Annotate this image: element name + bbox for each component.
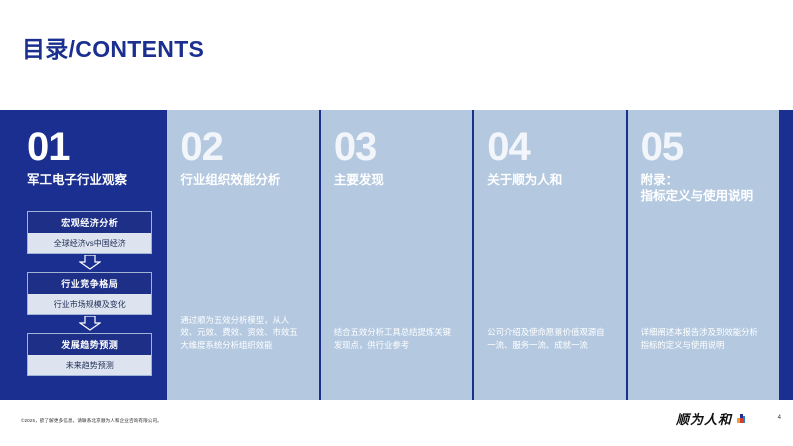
brand-logo: 顺为人和 [676,409,745,428]
flow-step-2[interactable]: 行业竞争格局 行业市场规模及变化 [27,272,152,315]
flow-step-3-title: 发展趋势预测 [28,334,151,356]
band-left-edge [0,110,14,400]
flowchart: 宏观经济分析 全球经济vs中国经济 行业竞争格局 行业市场规模及变化 发展趋 [27,211,152,376]
band-right-edge [779,110,793,400]
content-panel-01[interactable]: 01 军工电子行业观察 宏观经济分析 全球经济vs中国经济 行业竞争格局 行业市… [14,110,165,400]
flow-step-1-title: 宏观经济分析 [28,212,151,234]
content-panel-03[interactable]: 03 主要发现 结合五效分析工具总结提炼关键发现点，供行业参考 [321,110,472,400]
slide-root: 目录/CONTENTS 01 军工电子行业观察 宏观经济分析 全球经济vs中国经… [0,0,793,446]
brand-mark-icon [737,414,745,423]
panel-title-02: 行业组织效能分析 [180,173,305,189]
panel-number-03: 03 [334,128,459,166]
flow-step-3-subtitle: 未来趋势预测 [28,356,151,375]
content-panel-05[interactable]: 05 附录： 指标定义与使用说明 详细阐述本报告涉及到效能分析指标的定义与使用说… [628,110,779,400]
panel-description-02: 通过顺为五效分析模型，从人效、元效、费效、资效、市效五大维度系统分析组织效能 [180,314,305,386]
flow-step-3[interactable]: 发展趋势预测 未来趋势预测 [27,333,152,376]
brand-name: 顺为人和 [676,409,732,428]
panel-title-05: 附录： 指标定义与使用说明 [641,173,766,204]
panel-description-04: 公司介绍及使命愿景价值观源自一流、服务一流、成就一流 [487,326,612,386]
content-panel-02[interactable]: 02 行业组织效能分析 通过顺为五效分析模型，从人效、元效、费效、资效、市效五大… [167,110,318,400]
panel-title-03: 主要发现 [334,173,459,189]
panel-title-04: 关于顺为人和 [487,173,612,189]
panel-title-01: 军工电子行业观察 [27,173,152,189]
flow-step-1-subtitle: 全球经济vs中国经济 [28,234,151,253]
panel-number-02: 02 [180,128,305,166]
flow-step-1[interactable]: 宏观经济分析 全球经济vs中国经济 [27,211,152,254]
contents-band: 01 军工电子行业观察 宏观经济分析 全球经济vs中国经济 行业竞争格局 行业市… [0,110,793,400]
footer-copyright: ©2025，欲了解更多信息，请联系北京顺为人和企业咨询有限公司。 [21,418,162,424]
page-title: 目录/CONTENTS [22,30,204,64]
flow-step-2-subtitle: 行业市场规模及变化 [28,295,151,314]
page-number: 4 [778,415,781,421]
panel-number-05: 05 [641,128,766,166]
flow-step-2-title: 行业竞争格局 [28,273,151,295]
flow-arrow-down-icon-1 [27,254,152,272]
panel-number-01: 01 [27,128,152,166]
panel-description-03: 结合五效分析工具总结提炼关键发现点，供行业参考 [334,326,459,386]
flow-arrow-down-icon-2 [27,315,152,333]
panel-number-04: 04 [487,128,612,166]
panel-list: 01 军工电子行业观察 宏观经济分析 全球经济vs中国经济 行业竞争格局 行业市… [14,110,779,400]
panel-description-05: 详细阐述本报告涉及到效能分析指标的定义与使用说明 [641,326,766,386]
content-panel-04[interactable]: 04 关于顺为人和 公司介绍及使命愿景价值观源自一流、服务一流、成就一流 [474,110,625,400]
